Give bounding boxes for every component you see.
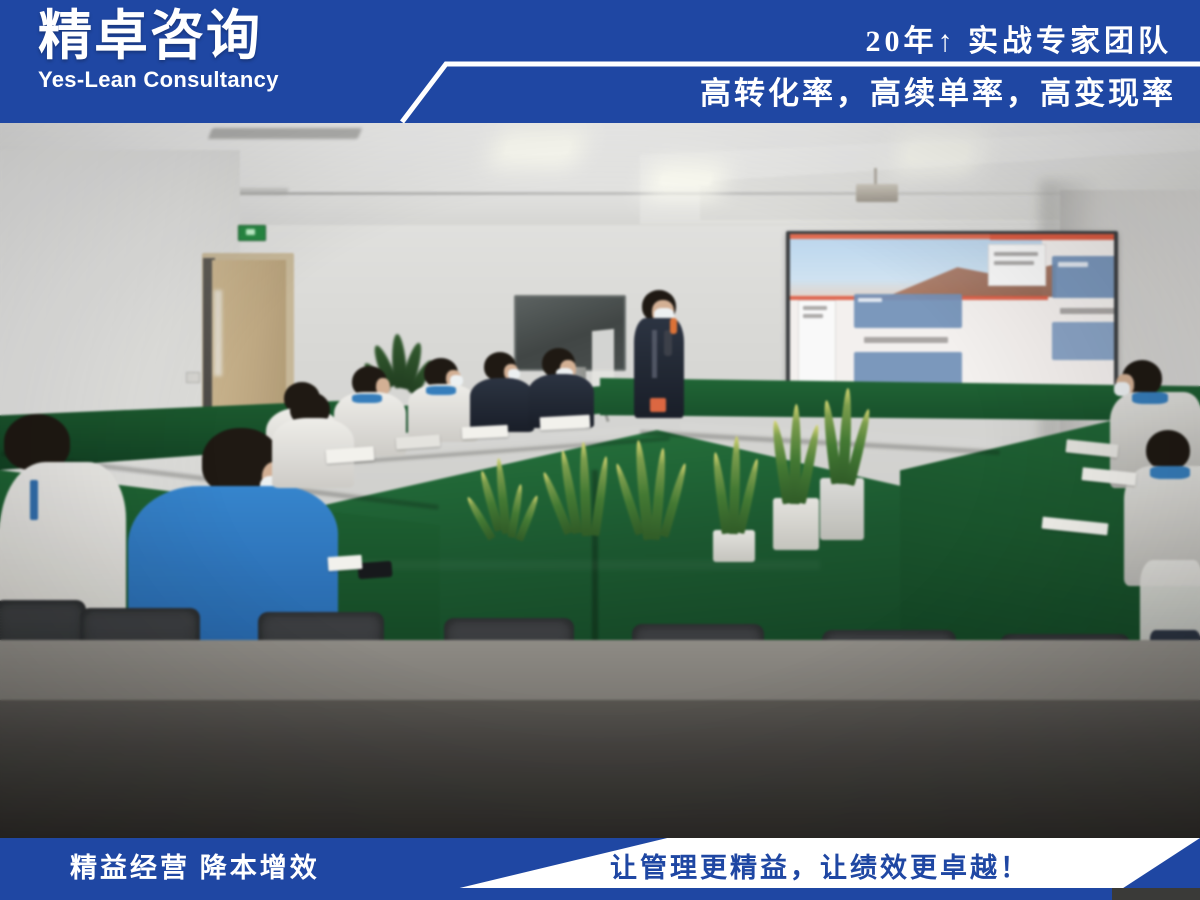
wooden-door — [212, 260, 286, 423]
brand-logo: 精卓咨询 Yes-Lean Consultancy — [38, 8, 368, 116]
microphone — [670, 318, 677, 334]
promotional-photo-banner: 精卓咨询 Yes-Lean Consultancy 20年↑ 实战专家团队 高转… — [0, 0, 1200, 900]
footer-slogan-left: 精益经营 降本增效 — [70, 846, 320, 885]
header-diagonal-rule — [400, 58, 1200, 124]
slide-callout-text — [994, 252, 1038, 256]
slide-card-title-right — [1058, 262, 1088, 267]
footer-bottom-strip-dark — [1112, 888, 1200, 900]
light-switch — [186, 372, 200, 383]
ceiling-beam-left — [208, 128, 362, 139]
conference-room-photo — [0, 0, 1200, 900]
presenter-tie — [652, 330, 657, 378]
smartphone — [357, 561, 392, 579]
presenter-cup — [650, 398, 666, 412]
ceiling-light-3 — [907, 145, 970, 161]
plant-pot-1 — [713, 530, 755, 562]
ceiling-light-2 — [659, 173, 714, 186]
slide-card-title-left — [858, 298, 882, 302]
slide-caption-left — [864, 337, 948, 343]
notebook — [540, 415, 591, 431]
notebook — [328, 555, 363, 571]
door-light-reflection — [214, 290, 222, 376]
header-tagline-top: 20年↑ 实战专家团队 — [866, 16, 1173, 60]
slide-accent-tab — [990, 234, 1114, 240]
plant-pot-3 — [820, 478, 864, 540]
footer-bottom-strip — [0, 888, 1200, 900]
ceiling-light-1 — [503, 140, 573, 155]
slide-sidebar-text — [803, 306, 827, 310]
slide-caption-right — [1060, 308, 1114, 314]
slide-callout-text-2 — [994, 261, 1034, 265]
slide-content-card-right-bottom — [1052, 322, 1114, 360]
notebook — [462, 425, 509, 439]
footer-slogan-right: 让管理更精益，让绩效更卓越！ — [610, 846, 1030, 885]
slide-content-card-left-bottom — [854, 352, 962, 386]
presenter-arm — [664, 330, 672, 356]
exit-sign-icon — [246, 229, 255, 235]
footer-banner: 精益经营 降本增效 让管理更精益，让绩效更卓越！ — [0, 838, 1200, 900]
ceiling-projector — [856, 184, 898, 202]
slide-sidebar-text-2 — [803, 314, 823, 318]
plant-pot-2 — [773, 498, 819, 550]
projection-screen — [790, 234, 1114, 402]
slide-callout-box — [988, 244, 1046, 286]
brand-name-en: Yes-Lean Consultancy — [38, 67, 368, 93]
brand-name-cn: 精卓咨询 — [38, 8, 368, 65]
